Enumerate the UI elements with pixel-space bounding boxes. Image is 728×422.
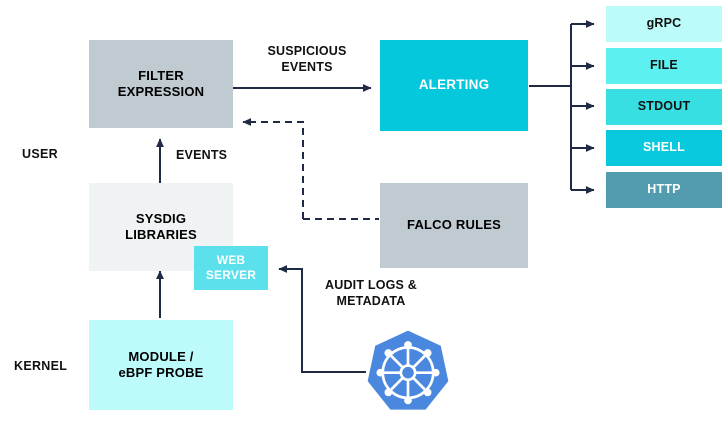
output-file[interactable]: FILE xyxy=(606,48,722,84)
wire-falco-rules-to-filter xyxy=(243,122,379,219)
output-http[interactable]: HTTP xyxy=(606,172,722,208)
output-stdout[interactable]: STDOUT xyxy=(606,89,722,125)
output-shell[interactable]: SHELL xyxy=(606,130,722,166)
user-zone-label: USER xyxy=(22,147,58,161)
audit-logs-metadata-label: AUDIT LOGS & METADATA xyxy=(312,277,430,310)
box-module-ebpf-probe[interactable]: MODULE / eBPF PROBE xyxy=(89,320,233,410)
kernel-zone-label: KERNEL xyxy=(14,359,67,373)
diagram-canvas: USER KERNEL FILTER EXPRESSION SYSDIG LIB… xyxy=(0,0,728,422)
box-filter-expression[interactable]: FILTER EXPRESSION xyxy=(89,40,233,128)
wire-alerting-to-outputs xyxy=(529,24,594,190)
box-web-server[interactable]: WEB SERVER xyxy=(194,246,268,290)
box-alerting[interactable]: ALERTING xyxy=(380,40,528,131)
box-falco-rules[interactable]: FALCO RULES xyxy=(380,183,528,268)
kubernetes-icon xyxy=(366,328,450,414)
output-grpc[interactable]: gRPC xyxy=(606,6,722,42)
events-label: EVENTS xyxy=(176,147,248,163)
suspicious-events-label: SUSPICIOUS EVENTS xyxy=(252,43,362,76)
